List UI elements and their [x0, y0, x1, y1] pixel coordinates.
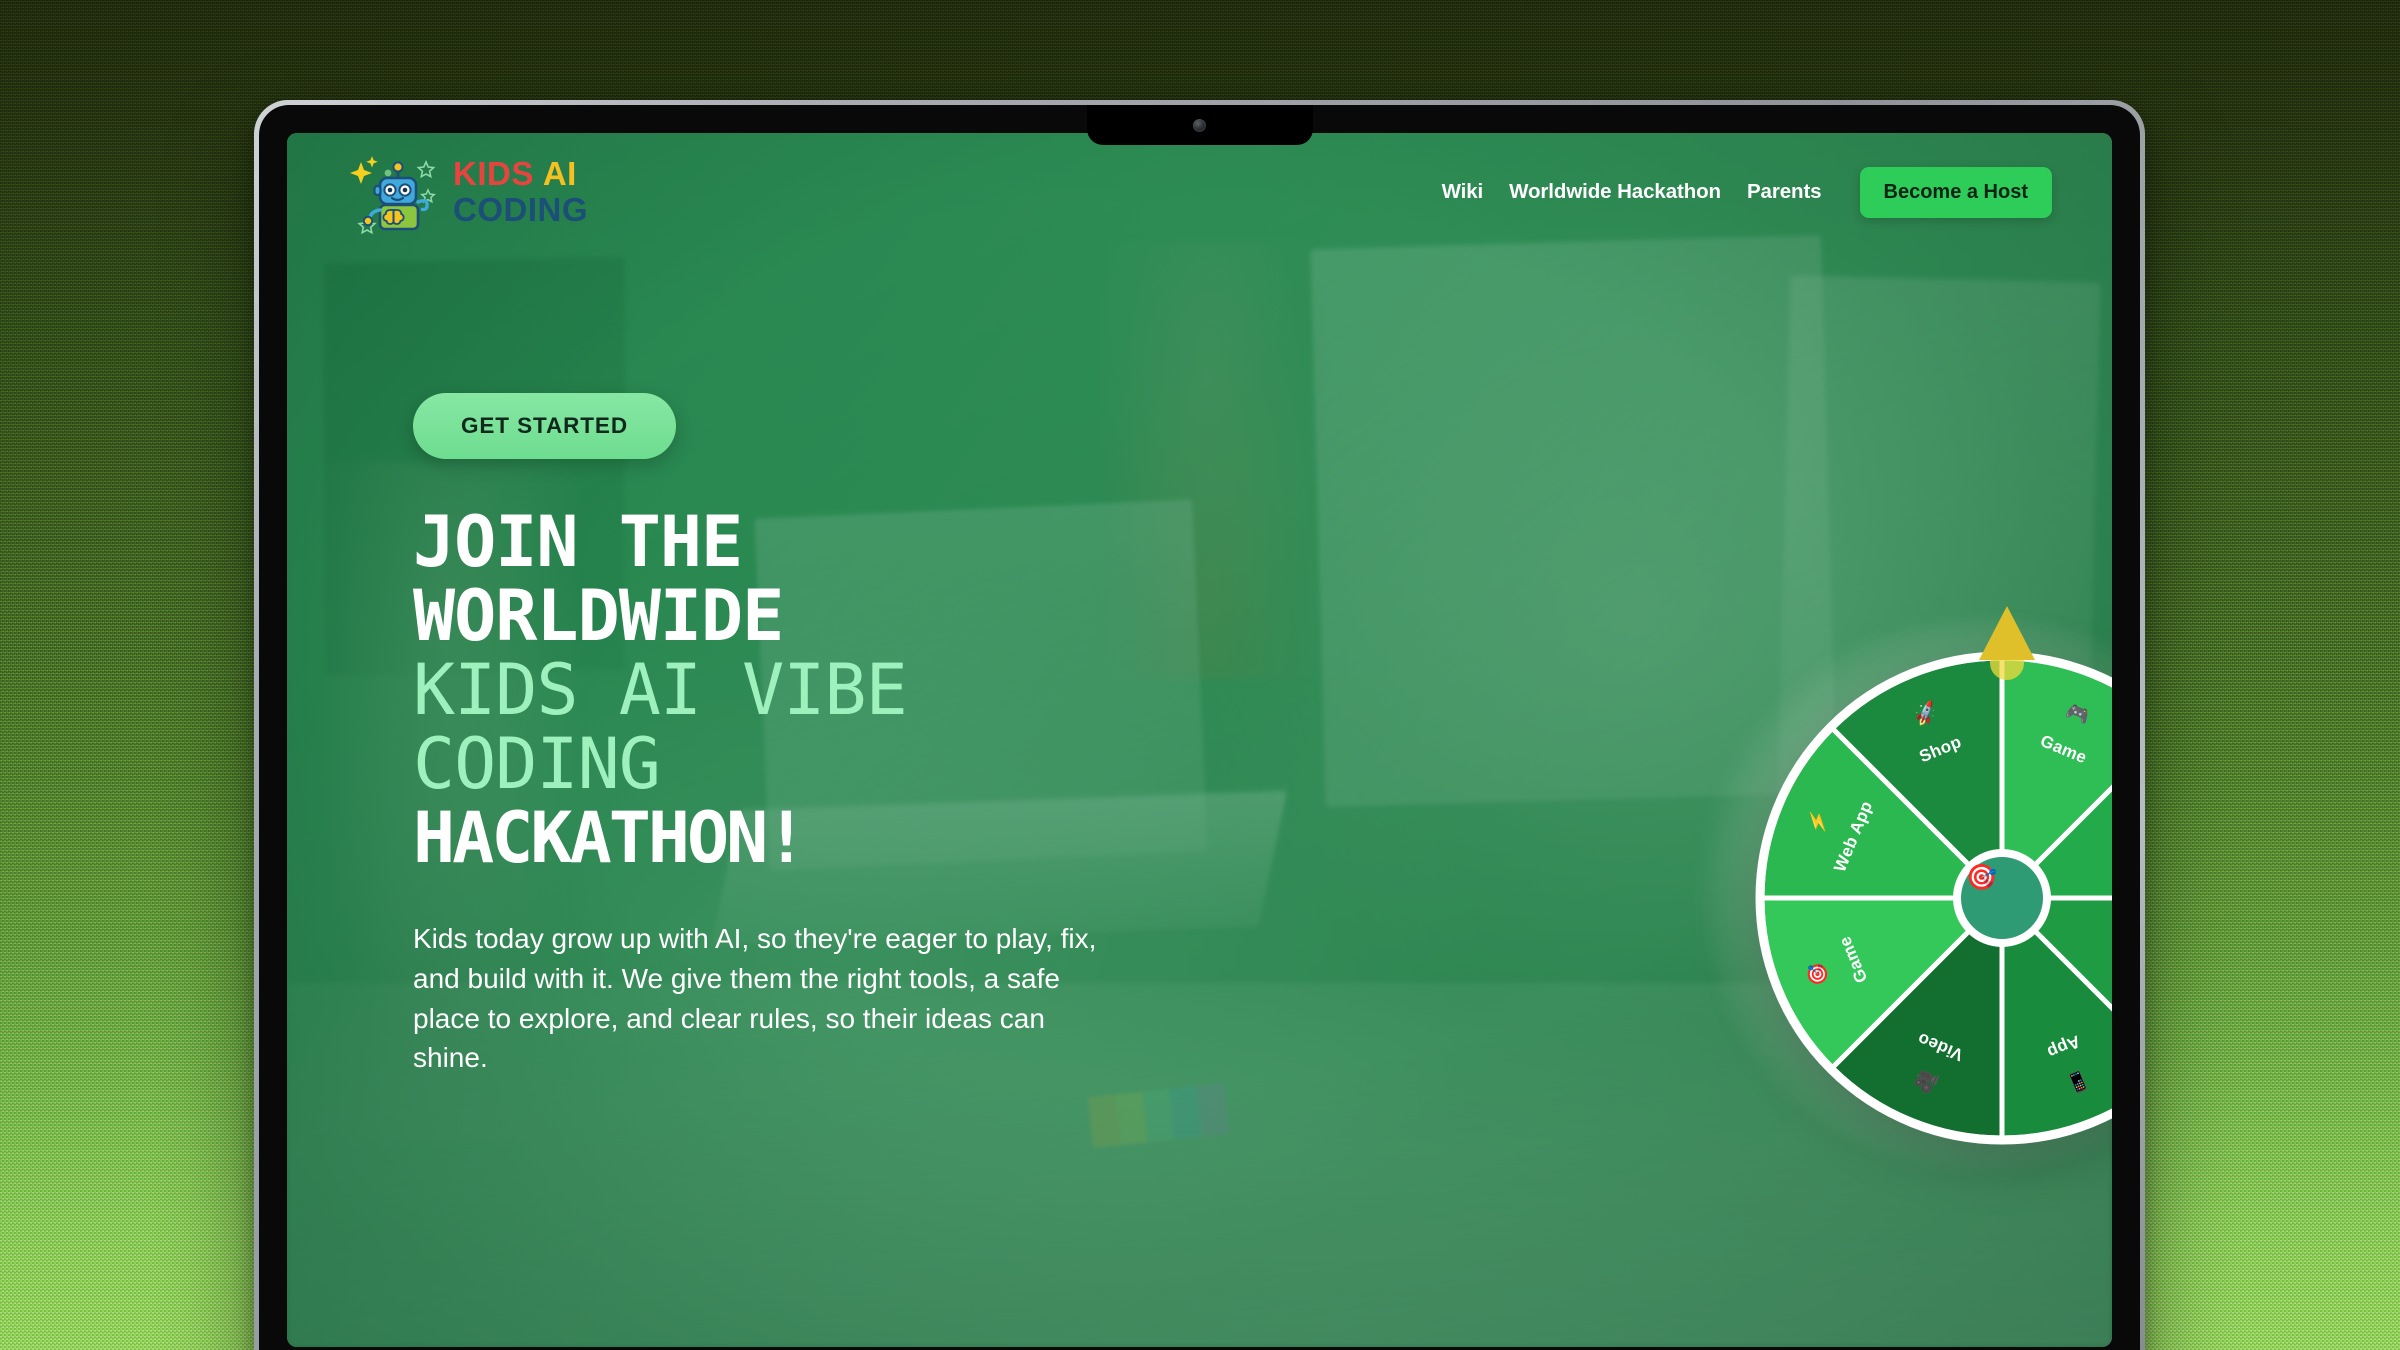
headline-line-1: JOIN THE — [413, 507, 1243, 577]
spin-wheel[interactable]: Game🎮Social📱Website🌐App📱Video🎥Game🎯Web A… — [1702, 598, 2112, 1158]
hero-paragraph: Kids today grow up with AI, so they're e… — [413, 919, 1113, 1078]
brand-wordmark: KIDS AI CODING — [453, 158, 588, 226]
become-a-host-button[interactable]: Become a Host — [1860, 167, 2053, 218]
laptop-screen: KIDS AI CODING Wiki Worldwide Hackathon … — [287, 133, 2112, 1347]
laptop-bezel: KIDS AI CODING Wiki Worldwide Hackathon … — [259, 105, 2140, 1350]
main-navigation: Wiki Worldwide Hackathon Parents Become … — [1442, 167, 2052, 218]
hero-headline: JOIN THE WORLDWIDE KIDS AI VIBE CODING H… — [413, 507, 1243, 873]
sparkle-icon — [350, 156, 378, 184]
nav-item-parents[interactable]: Parents — [1747, 180, 1822, 204]
hero-section: GET STARTED JOIN THE WORLDWIDE KIDS AI V… — [413, 393, 1243, 1078]
logo-kids-text: KIDS — [453, 158, 534, 190]
wheel-pointer-icon — [1976, 598, 2038, 695]
headline-line-3: KIDS AI VIBE — [413, 655, 1243, 725]
headline-line-5: HACKATHON! — [413, 803, 1243, 873]
headline-line-4: CODING — [413, 729, 1243, 799]
headline-line-2: WORLDWIDE — [413, 581, 1243, 651]
laptop-mockup: KIDS AI CODING Wiki Worldwide Hackathon … — [254, 100, 2145, 1350]
logo-ai-text: AI — [543, 158, 577, 190]
get-started-button[interactable]: GET STARTED — [413, 393, 676, 459]
robot-mascot-icon — [347, 146, 439, 238]
webcam-icon — [1193, 119, 1206, 132]
brand-logo[interactable]: KIDS AI CODING — [347, 146, 588, 238]
logo-coding-text: CODING — [453, 194, 588, 226]
nav-item-wiki[interactable]: Wiki — [1442, 180, 1484, 204]
site-header: KIDS AI CODING Wiki Worldwide Hackathon … — [287, 133, 2112, 251]
brain-icon — [383, 210, 403, 224]
laptop-notch — [1087, 105, 1313, 145]
nav-item-worldwide-hackathon[interactable]: Worldwide Hackathon — [1509, 180, 1721, 204]
wheel-center-hub[interactable] — [1957, 853, 2047, 943]
wheel-svg[interactable]: Game🎮Social📱Website🌐App📱Video🎥Game🎯Web A… — [1752, 648, 2112, 1148]
